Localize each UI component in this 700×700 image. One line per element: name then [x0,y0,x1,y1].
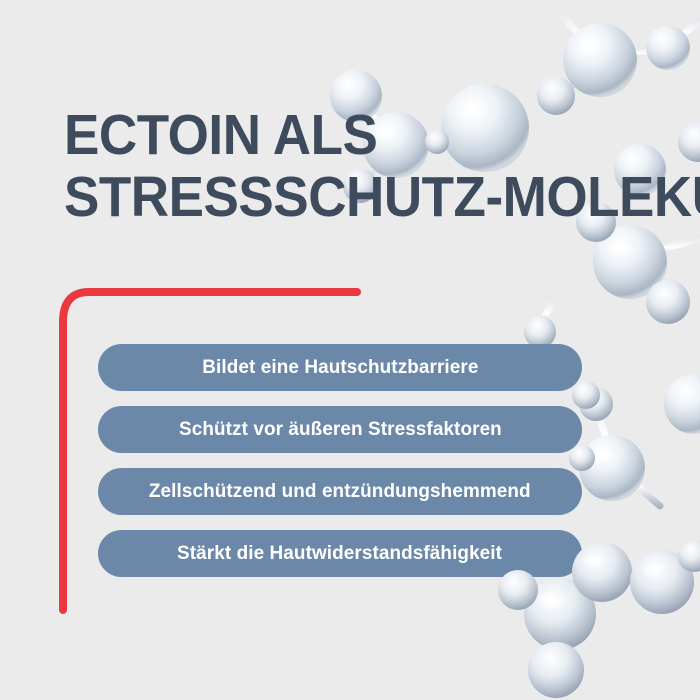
benefit-pill-4[interactable]: Stärkt die Hautwiderstandsfähigkeit [98,530,582,577]
benefit-pill-4-label: Stärkt die Hautwiderstandsfähigkeit [177,542,502,565]
benefit-pill-3-label: Zellschützend und entzündungshemmend [149,480,531,503]
benefit-pill-1-label: Bildet eine Hautschutzbarriere [202,356,478,379]
benefit-pill-1[interactable]: Bildet eine Hautschutzbarriere [98,344,582,391]
headline-line-2: STRESSSCHUTZ-MOLEKÜL [64,166,700,228]
benefit-pill-list: Bildet eine Hautschutzbarriere Schützt v… [98,344,582,577]
benefit-pill-3[interactable]: Zellschützend und entzündungshemmend [98,468,582,515]
infographic-canvas: ECTOIN ALS STRESSSCHUTZ-MOLEKÜL Bildet e… [0,0,700,700]
benefit-pill-2-label: Schützt vor äußeren Stressfaktoren [179,418,502,441]
benefit-pill-2[interactable]: Schützt vor äußeren Stressfaktoren [98,406,582,453]
page-title: ECTOIN ALS STRESSSCHUTZ-MOLEKÜL [64,104,700,228]
headline-line-1: ECTOIN ALS [64,104,700,166]
